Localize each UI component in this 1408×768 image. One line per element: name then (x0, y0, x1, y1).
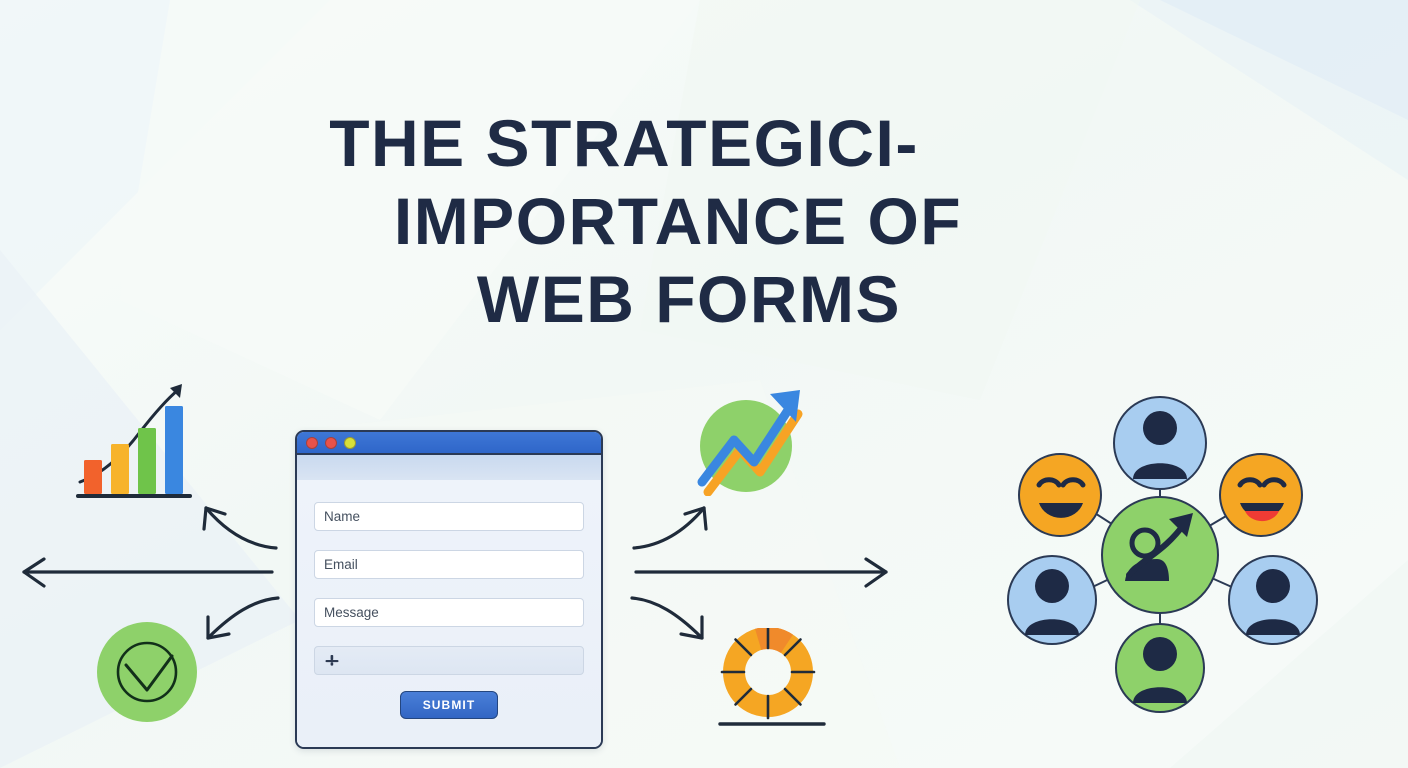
node-top-right[interactable] (1220, 454, 1302, 536)
web-form: Name Email Message SUBMIT (297, 480, 601, 749)
browser-titlebar (297, 432, 601, 455)
attachment-field[interactable] (314, 646, 584, 675)
submit-row: SUBMIT (314, 691, 584, 719)
name-field[interactable]: Name (314, 502, 584, 531)
minimize-dot[interactable] (325, 437, 337, 449)
name-field-placeholder: Name (324, 509, 360, 524)
email-field[interactable]: Email (314, 550, 584, 579)
node-bottom[interactable] (1116, 624, 1204, 712)
donut-chart-icon (712, 628, 832, 738)
browser-window: Name Email Message SUBMIT (295, 430, 603, 749)
node-top-left[interactable] (1019, 454, 1101, 536)
title-line-3: WEB FORMS (0, 260, 1408, 338)
close-dot[interactable] (306, 437, 318, 449)
curved-arrow-down-left (182, 592, 282, 648)
message-field[interactable]: Message (314, 598, 584, 627)
submit-button[interactable]: SUBMIT (400, 691, 499, 719)
node-top[interactable] (1114, 397, 1206, 489)
curved-arrow-up-right (630, 498, 730, 554)
user-network-diagram (1005, 395, 1335, 725)
browser-toolbar (297, 455, 601, 480)
node-bottom-left[interactable] (1008, 556, 1096, 644)
growth-arrow-chart-icon (692, 378, 810, 496)
title-line-2: IMPORTANCE OF (0, 182, 1408, 260)
curved-arrow-up-left (180, 498, 280, 554)
email-field-placeholder: Email (324, 557, 358, 572)
infographic-canvas: THE STRATEGICI- IMPORTANCE OF WEB FORMS (0, 0, 1408, 768)
node-bottom-right[interactable] (1229, 556, 1317, 644)
hub-node[interactable] (1102, 497, 1218, 613)
divide-icon (324, 653, 340, 669)
page-title: THE STRATEGICI- IMPORTANCE OF WEB FORMS (0, 104, 1408, 338)
title-line-1: THE STRATEGICI- (0, 104, 1408, 182)
maximize-dot[interactable] (344, 437, 356, 449)
message-field-placeholder: Message (324, 605, 379, 620)
bar-chart-growth-icon (62, 370, 202, 510)
